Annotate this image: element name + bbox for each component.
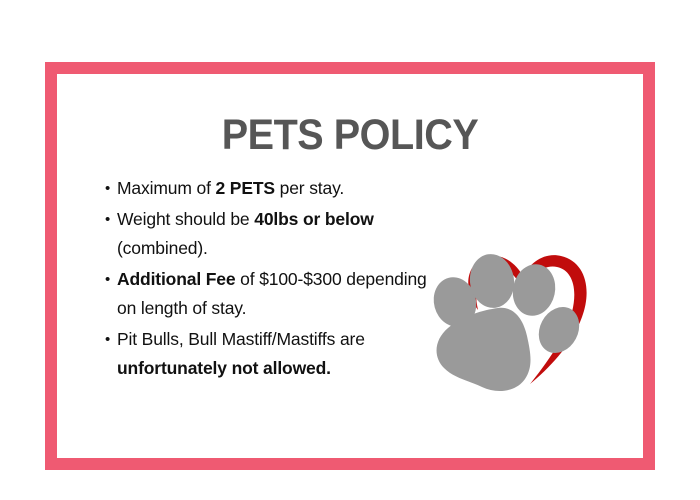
bullet-text-segment: 40lbs or below — [254, 209, 373, 229]
paw-print-icon — [428, 251, 587, 391]
bullet-text-segment: (combined). — [117, 238, 208, 258]
poster-canvas: PETS POLICY Maximum of 2 PETS per stay.W… — [0, 0, 700, 500]
heart-paw-svg — [412, 202, 612, 402]
heart-paw-logo — [412, 202, 612, 402]
policy-bullet-additional-fee: Additional Fee of $100-$300 depending on… — [105, 265, 435, 324]
policy-card: PETS POLICY Maximum of 2 PETS per stay.W… — [45, 62, 655, 470]
bullet-text-segment: per stay. — [275, 178, 344, 198]
bullet-text-segment: Additional Fee — [117, 269, 235, 289]
bullet-text-segment: Maximum of — [117, 178, 216, 198]
policy-bullet-max-pets: Maximum of 2 PETS per stay. — [105, 174, 435, 204]
bullet-text-segment: 2 PETS — [216, 178, 275, 198]
bullet-text-segment: unfortunately not allowed. — [117, 358, 331, 378]
policy-bullet-weight-limit: Weight should be 40lbs or below (combine… — [105, 205, 435, 264]
policy-bullet-list: Maximum of 2 PETS per stay.Weight should… — [105, 174, 435, 385]
bullet-text-segment: Pit Bulls, Bull Mastiff/Mastiffs are — [117, 329, 365, 349]
bullet-text-segment: Weight should be — [117, 209, 254, 229]
policy-bullet-breed-restriction: Pit Bulls, Bull Mastiff/Mastiffs are unf… — [105, 325, 435, 384]
page-title: PETS POLICY — [80, 112, 619, 158]
